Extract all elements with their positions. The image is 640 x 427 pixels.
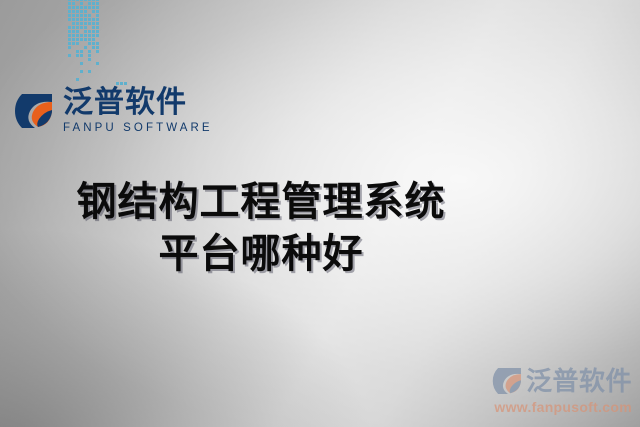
watermark-url: www.fanpusoft.com — [492, 399, 632, 415]
fanpu-hexagon-swoosh-logo-icon — [14, 90, 56, 132]
brand-name-cn: 泛普软件 — [63, 86, 187, 119]
brand-text-block: 泛普软件 FANPU SOFTWARE — [63, 88, 213, 135]
watermark-name-cn: 泛普软件 — [526, 368, 632, 394]
brand-logo: 泛普软件 FANPU SOFTWARE — [14, 88, 213, 135]
fanpu-watermark-logo-icon — [492, 365, 524, 397]
page-title: 钢结构工程管理系统 平台哪种好 — [0, 176, 640, 280]
page-title-line-1: 钢结构工程管理系统 — [0, 176, 522, 228]
poster-canvas: 泛普软件 FANPU SOFTWARE 钢结构工程管理系统 平台哪种好 泛普软件… — [0, 0, 640, 427]
pixel-building-skyline-icon — [36, 0, 128, 86]
brand-name-en: FANPU SOFTWARE — [63, 123, 213, 135]
watermark-logo-row: 泛普软件 — [492, 365, 632, 397]
page-title-line-2: 平台哪种好 — [0, 228, 522, 280]
watermark: 泛普软件 www.fanpusoft.com — [492, 365, 632, 415]
